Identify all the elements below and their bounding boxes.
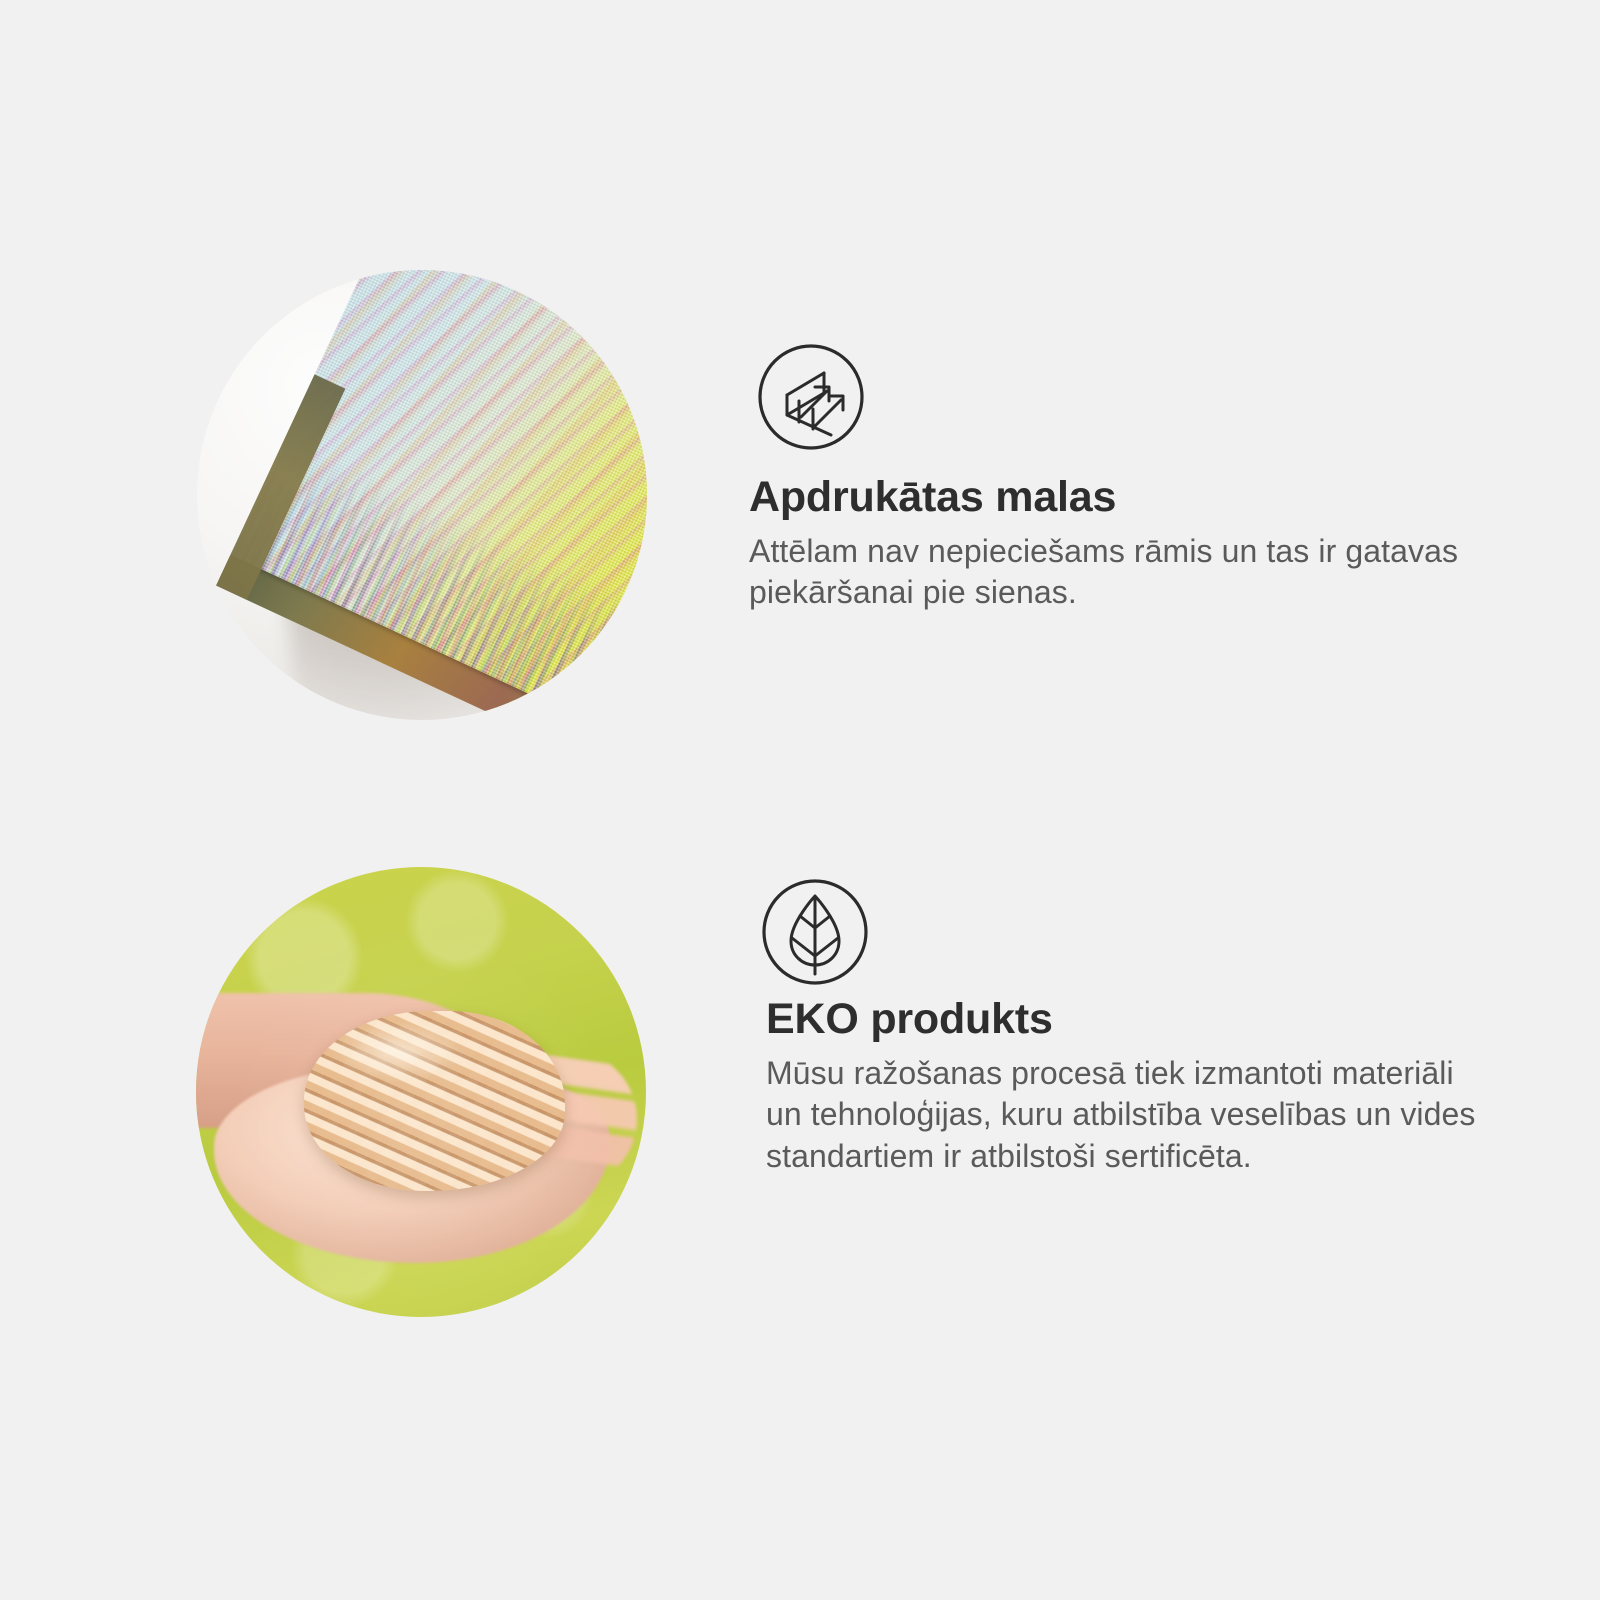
eco-photo-backdrop bbox=[196, 867, 646, 1317]
canvas-body bbox=[216, 270, 647, 720]
canvas-photo-backdrop bbox=[197, 270, 647, 720]
feature-block-printed-edges: Apdrukātas malas Attēlam nav nepieciešam… bbox=[0, 230, 1600, 760]
canvas-corner-photo bbox=[197, 270, 647, 720]
wood-chips-in-hands-photo bbox=[196, 867, 646, 1317]
printed-edges-text-block: Apdrukātas malas Attēlam nav nepieciešam… bbox=[749, 475, 1479, 614]
feature-description: Attēlam nav nepieciešams rāmis un tas ir… bbox=[749, 531, 1479, 614]
feature-block-eko-product: EKO produkts Mūsu ražošanas procesā tiek… bbox=[0, 845, 1600, 1385]
printed-edges-icon bbox=[757, 343, 865, 451]
feature-description: Mūsu ražošanas procesā tiek izmantoti ma… bbox=[766, 1053, 1496, 1178]
feature-title: EKO produkts bbox=[766, 997, 1496, 1043]
feature-title: Apdrukātas malas bbox=[749, 475, 1479, 521]
leaf-icon bbox=[761, 878, 869, 986]
feature-highlights-page: Apdrukātas malas Attēlam nav nepieciešam… bbox=[0, 0, 1600, 1600]
eko-product-text-block: EKO produkts Mūsu ražošanas procesā tiek… bbox=[766, 997, 1496, 1177]
eco-photo-vignette bbox=[196, 867, 646, 1317]
